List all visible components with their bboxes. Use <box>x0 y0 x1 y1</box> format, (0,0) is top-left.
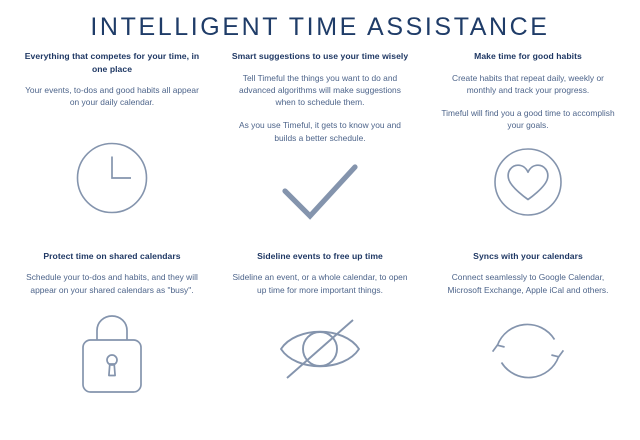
feature-text-block: Syncs with your calendars Connect seamle… <box>440 250 616 296</box>
heart-in-circle-icon <box>492 146 564 218</box>
feature-text-block: Sideline events to free up time Sideline… <box>232 250 408 296</box>
checkmark-icon <box>280 158 360 222</box>
eye-slash-icon <box>276 314 364 386</box>
page-title: INTELLIGENT TIME ASSISTANCE <box>0 0 640 42</box>
feature-text-block: Smart suggestions to use your time wisel… <box>232 50 408 144</box>
feature-card-protect-time: Protect time on shared calendars Schedul… <box>8 250 216 394</box>
feature-paragraph: Your events, to-dos and good habits all … <box>24 84 200 109</box>
feature-icon-slot <box>276 314 364 394</box>
feature-icon-slot <box>492 146 564 232</box>
feature-icon-slot <box>491 314 565 394</box>
feature-card-smart-suggestions: Smart suggestions to use your time wisel… <box>216 50 424 244</box>
feature-row-bottom: Protect time on shared calendars Schedul… <box>0 250 640 394</box>
feature-paragraph: As you use Timeful, it gets to know you … <box>232 119 408 144</box>
feature-paragraph: Create habits that repeat daily, weekly … <box>440 72 616 97</box>
sync-arrows-icon <box>491 314 565 388</box>
feature-heading: Make time for good habits <box>474 50 582 63</box>
feature-card-good-habits: Make time for good habits Create habits … <box>424 50 632 244</box>
feature-card-everything-competes: Everything that competes for your time, … <box>8 50 216 244</box>
feature-paragraph: Connect seamlessly to Google Calendar, M… <box>440 271 616 296</box>
feature-text-block: Make time for good habits Create habits … <box>440 50 616 132</box>
feature-text-block: Protect time on shared calendars Schedul… <box>24 250 200 296</box>
feature-text-block: Everything that competes for your time, … <box>22 50 202 126</box>
marketing-feature-page: INTELLIGENT TIME ASSISTANCE Everything t… <box>0 0 640 440</box>
feature-paragraph: Tell Timeful the things you want to do a… <box>232 72 408 109</box>
feature-paragraph: Sideline an event, or a whole calendar, … <box>232 271 408 296</box>
clock-icon <box>74 140 150 216</box>
feature-heading: Sideline events to free up time <box>257 250 383 263</box>
feature-heading: Everything that competes for your time, … <box>22 50 202 75</box>
feature-paragraph: Timeful will find you a good time to acc… <box>440 107 616 132</box>
feature-heading: Protect time on shared calendars <box>43 250 180 263</box>
feature-card-syncs-calendars: Syncs with your calendars Connect seamle… <box>424 250 632 394</box>
feature-heading: Smart suggestions to use your time wisel… <box>232 50 408 63</box>
feature-card-sideline-events: Sideline events to free up time Sideline… <box>216 250 424 394</box>
feature-icon-slot <box>280 158 360 244</box>
feature-heading: Syncs with your calendars <box>473 250 583 263</box>
padlock-icon <box>79 314 145 396</box>
feature-paragraph: Schedule your to-dos and habits, and the… <box>24 271 200 296</box>
feature-row-top: Everything that competes for your time, … <box>0 50 640 244</box>
feature-icon-slot <box>74 140 150 226</box>
feature-icon-slot <box>79 314 145 394</box>
